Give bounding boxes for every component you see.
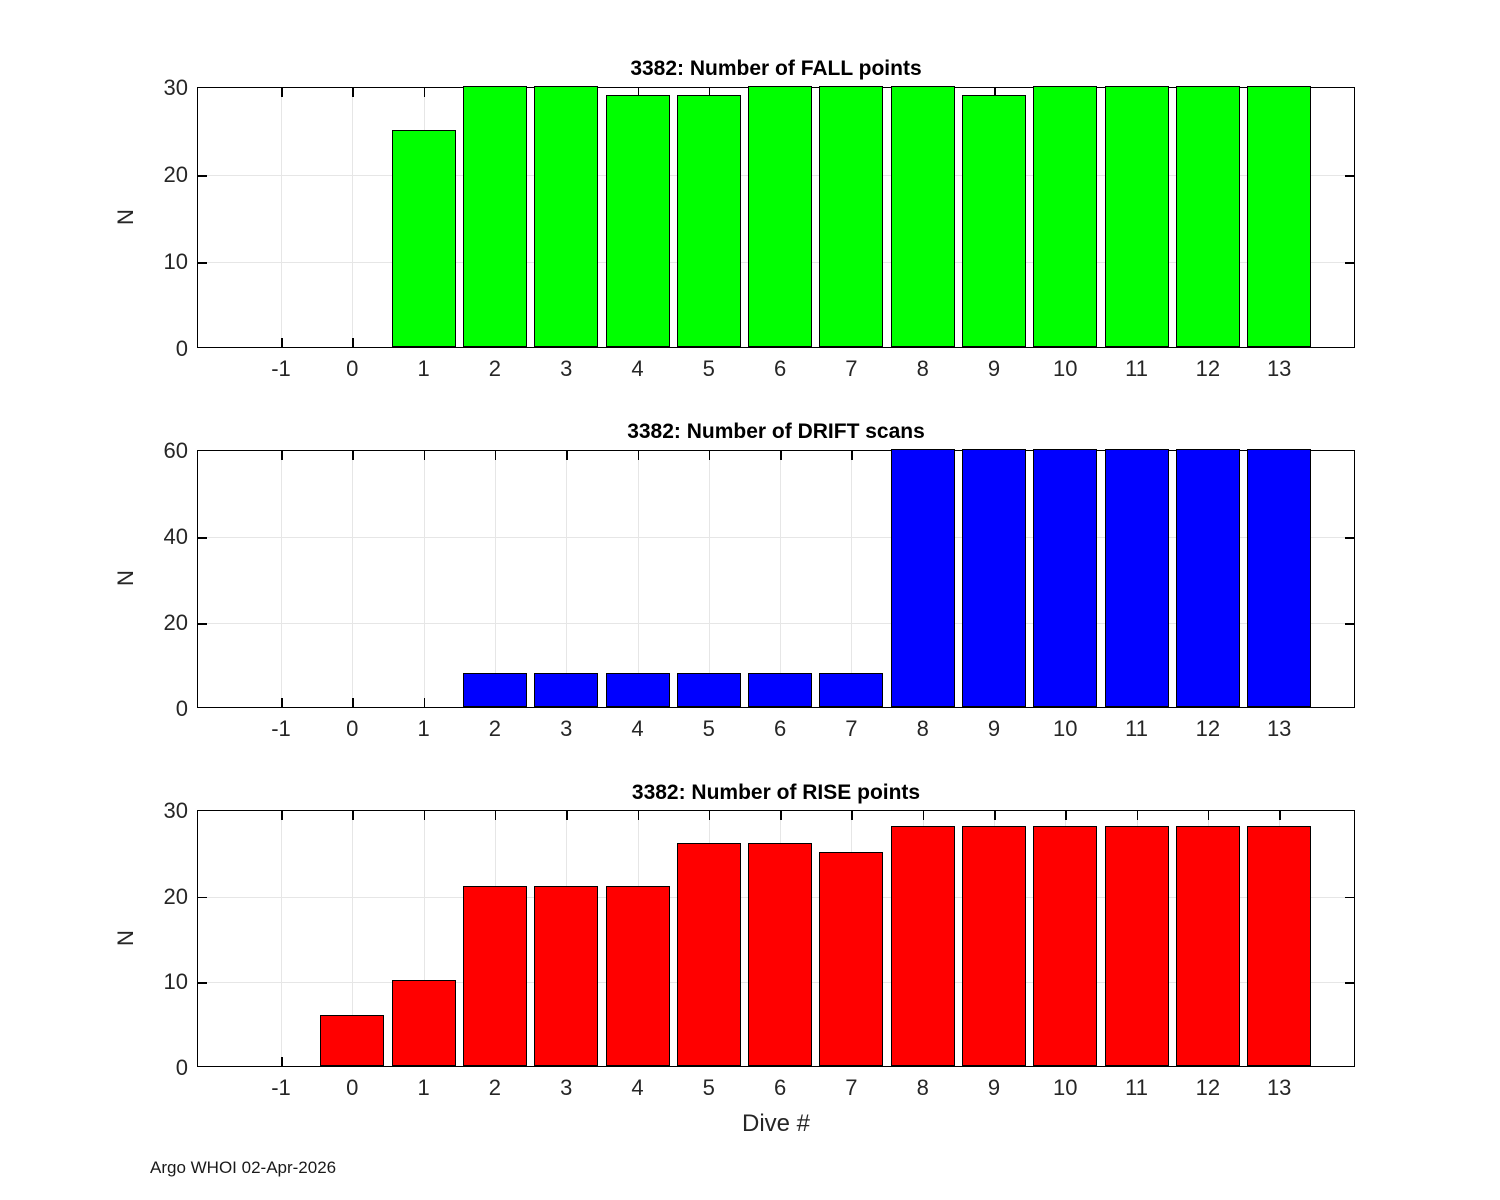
bar xyxy=(1033,826,1097,1066)
bar xyxy=(819,86,883,347)
gridline-vertical xyxy=(851,451,852,707)
bar xyxy=(819,673,883,707)
bar xyxy=(463,886,527,1066)
chart-title: 3382: Number of RISE points xyxy=(197,781,1355,805)
y-tick-mark xyxy=(198,262,207,264)
bar xyxy=(1105,86,1169,347)
bar xyxy=(677,95,741,347)
x-tick-mark xyxy=(424,451,426,460)
x-tick-label: 7 xyxy=(845,716,857,742)
x-tick-label: 2 xyxy=(489,716,501,742)
gridline-vertical xyxy=(281,451,282,707)
x-tick-mark xyxy=(566,451,568,460)
x-tick-label: 5 xyxy=(703,1075,715,1101)
x-tick-mark xyxy=(851,451,853,460)
x-tick-label: 4 xyxy=(631,356,643,382)
y-tick-mark xyxy=(198,897,207,899)
bar xyxy=(392,130,456,348)
x-tick-label: 11 xyxy=(1125,1075,1148,1101)
y-axis-label: N xyxy=(113,930,139,946)
bar xyxy=(748,86,812,347)
x-tick-label: 12 xyxy=(1196,1075,1220,1101)
bar xyxy=(1247,449,1311,707)
x-tick-mark xyxy=(851,811,853,820)
x-tick-mark xyxy=(638,811,640,820)
chart-title: 3382: Number of FALL points xyxy=(197,57,1355,81)
bar xyxy=(677,673,741,707)
plot-area: 0102030-1012345678910111213 xyxy=(197,87,1355,348)
bar xyxy=(962,449,1026,707)
y-tick-label: 20 xyxy=(164,610,188,636)
bar xyxy=(463,673,527,707)
bar xyxy=(606,886,670,1066)
x-tick-mark xyxy=(709,811,711,820)
x-tick-label: 5 xyxy=(703,356,715,382)
y-tick-mark xyxy=(1345,623,1354,625)
x-tick-label: 3 xyxy=(560,1075,572,1101)
bar xyxy=(320,1015,384,1066)
bar xyxy=(1105,826,1169,1066)
x-tick-mark xyxy=(281,88,283,97)
x-tick-label: 8 xyxy=(917,716,929,742)
gridline-vertical xyxy=(281,811,282,1066)
bar xyxy=(1176,826,1240,1066)
gridline-vertical xyxy=(352,88,353,347)
x-tick-mark xyxy=(281,811,283,820)
y-tick-label: 0 xyxy=(176,696,188,722)
y-tick-label: 20 xyxy=(164,162,188,188)
gridline-vertical xyxy=(424,451,425,707)
bar xyxy=(606,95,670,347)
x-tick-label: 11 xyxy=(1125,716,1148,742)
x-tick-label: 0 xyxy=(346,356,358,382)
bar xyxy=(962,826,1026,1066)
x-tick-label: 7 xyxy=(845,356,857,382)
bar xyxy=(534,886,598,1066)
bar xyxy=(819,852,883,1066)
bar xyxy=(463,86,527,347)
bar xyxy=(1033,449,1097,707)
y-tick-label: 10 xyxy=(164,249,188,275)
x-tick-label: -1 xyxy=(271,1075,291,1101)
plot-area: 0204060-1012345678910111213 xyxy=(197,450,1355,708)
y-tick-mark xyxy=(198,623,207,625)
plot-area: 0102030-1012345678910111213 xyxy=(197,810,1355,1067)
x-tick-mark xyxy=(352,88,354,97)
x-tick-label: 6 xyxy=(774,716,786,742)
y-tick-label: 30 xyxy=(164,75,188,101)
gridline-vertical xyxy=(566,451,567,707)
x-tick-mark xyxy=(352,451,354,460)
y-tick-mark xyxy=(1345,897,1354,899)
x-tick-label: 3 xyxy=(560,356,572,382)
bar xyxy=(392,980,456,1066)
x-tick-label: 8 xyxy=(917,1075,929,1101)
bar xyxy=(606,673,670,707)
x-tick-label: 10 xyxy=(1053,716,1077,742)
x-tick-label: 4 xyxy=(631,716,643,742)
gridline-vertical xyxy=(281,88,282,347)
x-tick-mark xyxy=(352,338,354,347)
x-tick-mark xyxy=(281,1057,283,1066)
bar xyxy=(748,843,812,1066)
y-tick-mark xyxy=(1345,175,1354,177)
x-tick-mark xyxy=(1208,811,1210,820)
x-tick-mark xyxy=(352,811,354,820)
x-tick-label: 13 xyxy=(1267,1075,1291,1101)
gridline-vertical xyxy=(352,451,353,707)
bar xyxy=(962,95,1026,347)
y-tick-label: 20 xyxy=(164,884,188,910)
x-tick-mark xyxy=(994,811,996,820)
y-tick-label: 40 xyxy=(164,524,188,550)
bar xyxy=(677,843,741,1066)
x-tick-mark xyxy=(424,811,426,820)
x-tick-label: 10 xyxy=(1053,1075,1077,1101)
x-tick-mark xyxy=(424,698,426,707)
x-tick-mark xyxy=(566,811,568,820)
bar xyxy=(534,86,598,347)
x-tick-label: 9 xyxy=(988,356,1000,382)
x-tick-label: 12 xyxy=(1196,356,1220,382)
gridline-vertical xyxy=(495,451,496,707)
bar xyxy=(891,86,955,347)
gridline-vertical xyxy=(638,451,639,707)
x-tick-label: 11 xyxy=(1125,356,1148,382)
y-tick-mark xyxy=(1345,982,1354,984)
bar xyxy=(1176,449,1240,707)
gridline-vertical xyxy=(709,451,710,707)
x-tick-mark xyxy=(638,451,640,460)
x-tick-label: 9 xyxy=(988,716,1000,742)
x-tick-label: 9 xyxy=(988,1075,1000,1101)
y-tick-label: 30 xyxy=(164,798,188,824)
x-tick-label: 0 xyxy=(346,716,358,742)
bar xyxy=(748,673,812,707)
x-tick-mark xyxy=(780,451,782,460)
bar xyxy=(1176,86,1240,347)
x-tick-label: 10 xyxy=(1053,356,1077,382)
x-tick-mark xyxy=(424,88,426,97)
bar xyxy=(1247,826,1311,1066)
bar xyxy=(1033,86,1097,347)
y-axis-label: N xyxy=(113,209,139,225)
x-tick-label: 7 xyxy=(845,1075,857,1101)
gridline-vertical xyxy=(780,451,781,707)
y-tick-label: 0 xyxy=(176,336,188,362)
x-tick-label: 2 xyxy=(489,1075,501,1101)
bar xyxy=(1105,449,1169,707)
x-tick-mark xyxy=(1065,811,1067,820)
x-axis-label: Dive # xyxy=(197,1110,1355,1138)
x-tick-label: 6 xyxy=(774,356,786,382)
x-tick-label: 12 xyxy=(1196,716,1220,742)
x-tick-mark xyxy=(709,451,711,460)
x-tick-label: 1 xyxy=(417,356,429,382)
x-tick-label: 13 xyxy=(1267,356,1291,382)
y-tick-mark xyxy=(1345,537,1354,539)
y-tick-mark xyxy=(198,537,207,539)
x-tick-mark xyxy=(352,698,354,707)
x-tick-mark xyxy=(281,451,283,460)
x-tick-mark xyxy=(281,338,283,347)
bar xyxy=(891,449,955,707)
chart-title: 3382: Number of DRIFT scans xyxy=(197,420,1355,444)
x-tick-label: 4 xyxy=(631,1075,643,1101)
x-tick-label: 8 xyxy=(917,356,929,382)
x-tick-label: -1 xyxy=(271,356,291,382)
y-tick-label: 60 xyxy=(164,438,188,464)
x-tick-label: 5 xyxy=(703,716,715,742)
x-tick-label: 1 xyxy=(417,1075,429,1101)
y-tick-label: 10 xyxy=(164,969,188,995)
x-tick-label: 13 xyxy=(1267,716,1291,742)
x-tick-label: -1 xyxy=(271,716,291,742)
x-tick-label: 1 xyxy=(417,716,429,742)
figure-footer: Argo WHOI 02-Apr-2026 xyxy=(150,1158,336,1178)
bar xyxy=(534,673,598,707)
x-tick-mark xyxy=(281,698,283,707)
x-tick-mark xyxy=(1279,811,1281,820)
x-tick-mark xyxy=(495,451,497,460)
x-tick-mark xyxy=(495,811,497,820)
x-tick-label: 2 xyxy=(489,356,501,382)
x-tick-label: 6 xyxy=(774,1075,786,1101)
y-axis-label: N xyxy=(113,570,139,586)
x-tick-label: 3 xyxy=(560,716,572,742)
bar xyxy=(1247,86,1311,347)
x-tick-mark xyxy=(780,811,782,820)
y-tick-mark xyxy=(198,175,207,177)
y-tick-label: 0 xyxy=(176,1055,188,1081)
y-tick-mark xyxy=(1345,262,1354,264)
y-tick-mark xyxy=(198,982,207,984)
bar xyxy=(891,826,955,1066)
x-tick-label: 0 xyxy=(346,1075,358,1101)
x-tick-mark xyxy=(1137,811,1139,820)
x-tick-mark xyxy=(923,811,925,820)
